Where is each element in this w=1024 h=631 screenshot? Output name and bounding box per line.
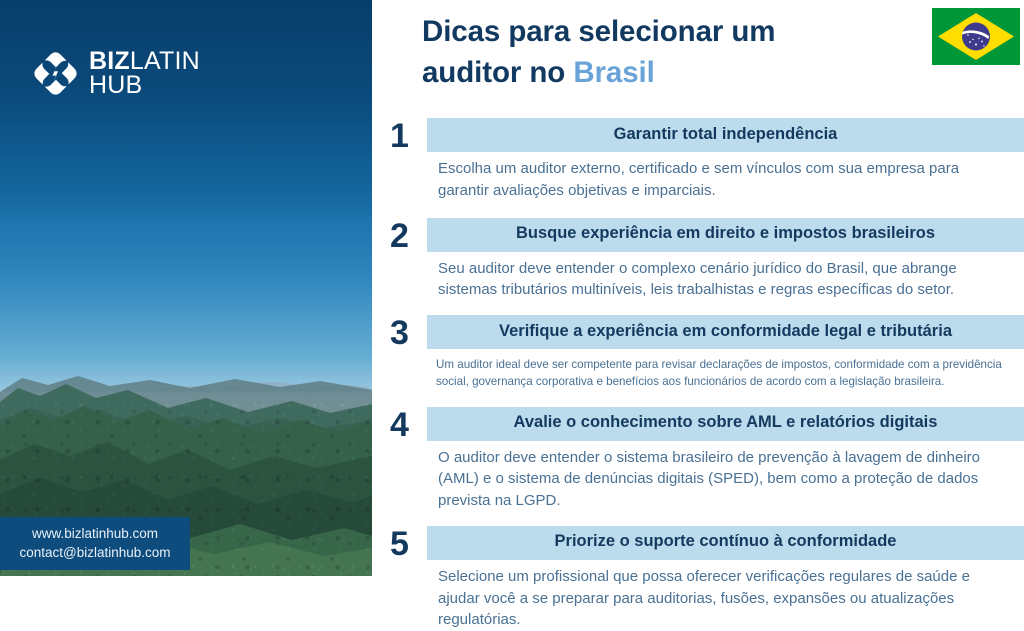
- tip-header-2: 2 Busque experiência em direito e impost…: [372, 218, 1024, 252]
- left-image-panel: BIZLATIN HUB www.bizlatinhub.com contact…: [0, 0, 372, 576]
- brand-overlay-wash: [0, 0, 372, 215]
- tip-body-3: Um auditor ideal deve ser competente par…: [436, 349, 1012, 391]
- logo-hub: HUB: [89, 73, 200, 97]
- website-text[interactable]: www.bizlatinhub.com: [14, 524, 176, 543]
- tip-header-5: 5 Priorize o suporte contínuo à conformi…: [372, 526, 1024, 560]
- tip-body-5: Selecione um profissional que possa ofer…: [438, 560, 1012, 631]
- tip-body-4: O auditor deve entender o sistema brasil…: [438, 441, 1012, 512]
- tip-number-1: 1: [372, 118, 427, 152]
- tip-item-5: 5 Priorize o suporte contínuo à conformi…: [372, 526, 1024, 631]
- tip-body-1: Escolha um auditor externo, certificado …: [438, 152, 1012, 202]
- tip-item-2: 2 Busque experiência em direito e impost…: [372, 218, 1024, 302]
- spacer: [372, 202, 1024, 218]
- tip-number-4: 4: [372, 407, 427, 441]
- tip-title-band-2: Busque experiência em direito e impostos…: [427, 218, 1024, 252]
- tip-number-3: 3: [372, 315, 427, 349]
- tip-item-4: 4 Avalie o conhecimento sobre AML e rela…: [372, 407, 1024, 512]
- tip-number-5: 5: [372, 526, 427, 560]
- tip-header-1: 1 Garantir total independência: [372, 118, 1024, 152]
- tip-title-2: Busque experiência em direito e impostos…: [516, 224, 935, 244]
- tip-title-3: Verifique a experiência em conformidade …: [499, 322, 952, 342]
- bizlatinhub-logo[interactable]: BIZLATIN HUB: [33, 49, 200, 97]
- logo-wordmark: BIZLATIN HUB: [89, 49, 200, 97]
- tip-title-band-5: Priorize o suporte contínuo à conformida…: [427, 526, 1024, 560]
- content-panel: Dicas para selecionar um auditor no Bras…: [372, 0, 1024, 576]
- tip-title-4: Avalie o conhecimento sobre AML e relató…: [514, 413, 938, 433]
- tip-title-band-4: Avalie o conhecimento sobre AML e relató…: [427, 407, 1024, 441]
- bizlatinhub-diamond-icon: [33, 51, 78, 96]
- brazil-flag-icon: [932, 8, 1020, 65]
- spacer: [372, 301, 1024, 315]
- spacer: [372, 391, 1024, 407]
- tips-list: 1 Garantir total independência Escolha u…: [372, 118, 1024, 631]
- contact-block[interactable]: www.bizlatinhub.com contact@bizlatinhub.…: [0, 517, 190, 570]
- tip-item-3: 3 Verifique a experiência em conformidad…: [372, 315, 1024, 391]
- title-country-accent: Brasil: [573, 56, 654, 89]
- title-line-1: Dicas para selecionar um: [422, 15, 775, 48]
- tip-title-1: Garantir total independência: [614, 125, 838, 145]
- tip-header-4: 4 Avalie o conhecimento sobre AML e rela…: [372, 407, 1024, 441]
- title-line-2-prefix: auditor no: [422, 56, 573, 89]
- spacer: [372, 512, 1024, 526]
- tip-header-3: 3 Verifique a experiência em conformidad…: [372, 315, 1024, 349]
- tip-item-1: 1 Garantir total independência Escolha u…: [372, 118, 1024, 202]
- tip-title-5: Priorize o suporte contínuo à conformida…: [555, 532, 897, 552]
- tip-body-2: Seu auditor deve entender o complexo cen…: [438, 252, 1012, 302]
- email-text[interactable]: contact@bizlatinhub.com: [14, 543, 176, 562]
- tip-title-band-1: Garantir total independência: [427, 118, 1024, 152]
- tip-number-2: 2: [372, 218, 427, 252]
- page-title: Dicas para selecionar um auditor no Bras…: [422, 12, 932, 93]
- tip-title-band-3: Verifique a experiência em conformidade …: [427, 315, 1024, 349]
- infographic-slide: BIZLATIN HUB www.bizlatinhub.com contact…: [0, 0, 1024, 576]
